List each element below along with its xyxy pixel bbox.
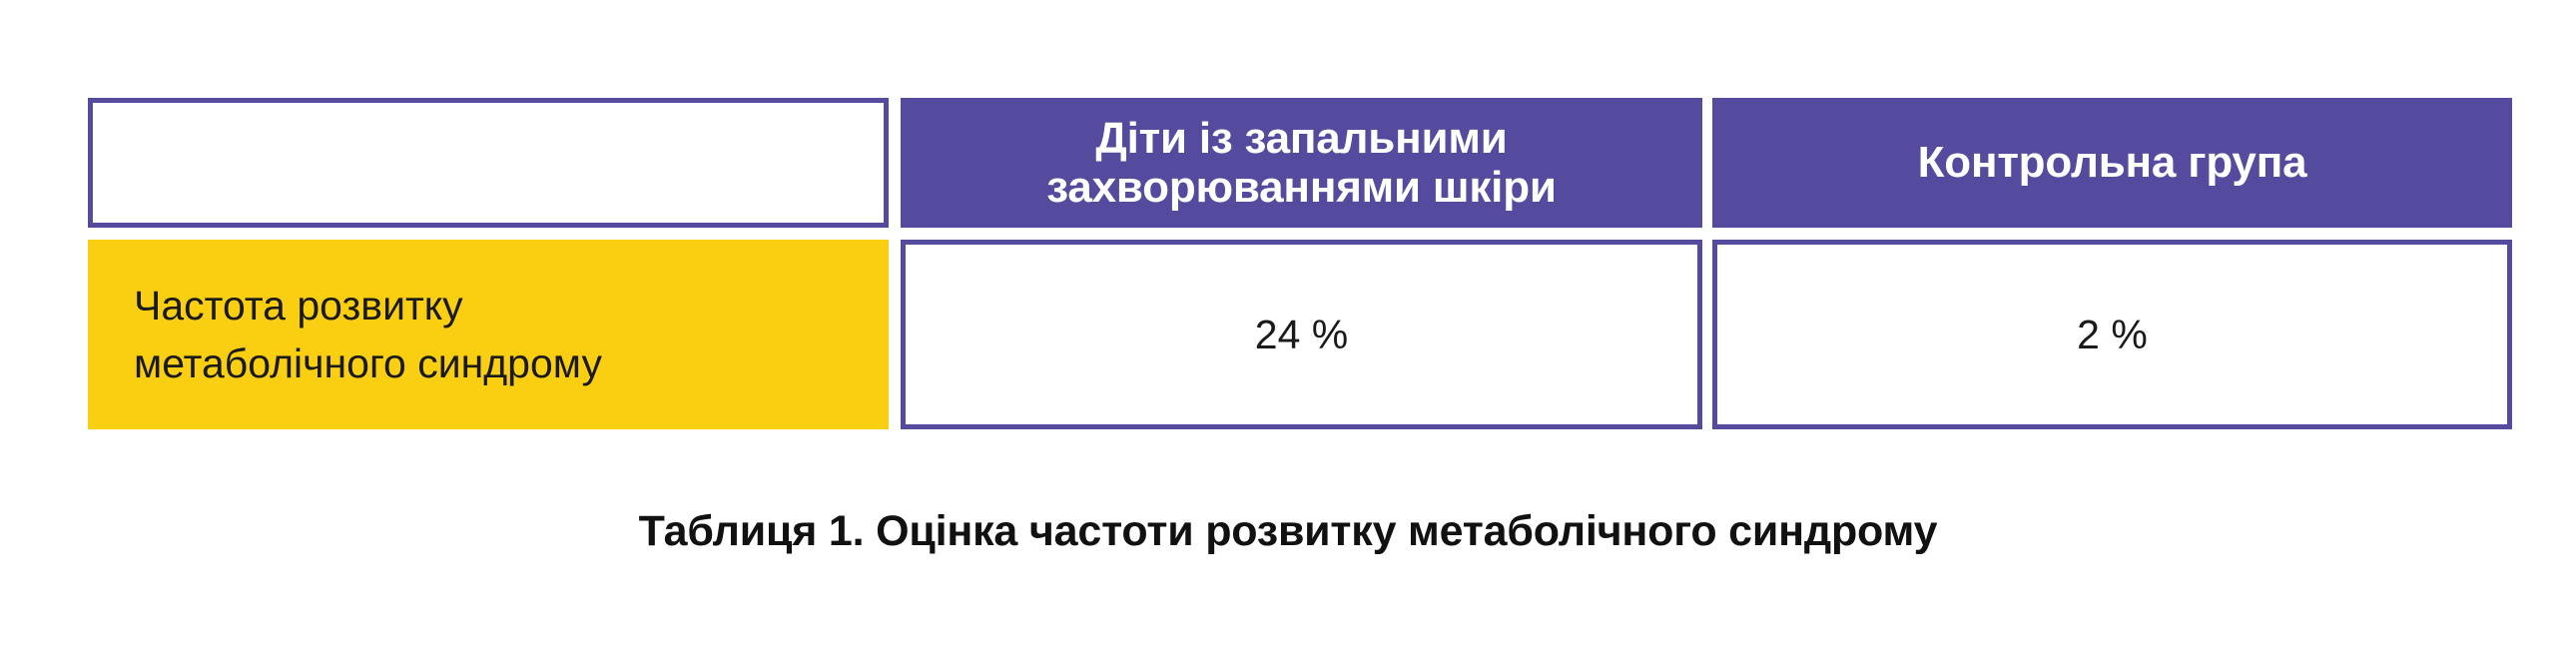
cell-study-group-value: 24 % [901,240,1702,429]
table-corner-cell [88,98,889,228]
column-gap [1702,240,1712,429]
column-gap [889,240,901,429]
column-gap [1702,98,1712,228]
column-header-study-group: Діти із запальними захворюваннями шкіри [901,98,1702,228]
data-table: Діти із запальними захворюваннями шкіри … [88,98,2512,429]
table-figure: Діти із запальними захворюваннями шкіри … [0,0,2576,653]
column-header-control-group: Контрольна група [1712,98,2512,228]
row-header-metabolic-syndrome-frequency: Частота розвитку метаболічного синдрому [88,240,889,429]
column-gap [889,98,901,228]
cell-control-group-value: 2 % [1712,240,2512,429]
table-header-row: Діти із запальними захворюваннями шкіри … [88,98,2512,228]
table-row: Частота розвитку метаболічного синдрому … [88,240,2512,429]
table-caption: Таблиця 1. Оцінка частоти розвитку метаб… [0,507,2576,556]
